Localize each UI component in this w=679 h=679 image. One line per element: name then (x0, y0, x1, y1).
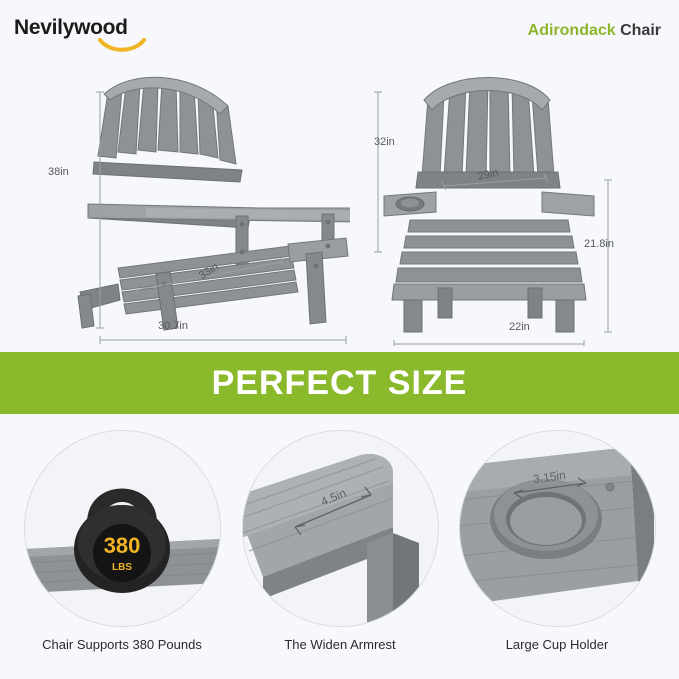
smile-arc-icon (98, 38, 146, 52)
dim-front-width: 22in (509, 321, 530, 333)
side-view-chair (60, 56, 350, 346)
kettlebell-icon: 380 LBS (25, 431, 220, 626)
feature-image-circle: 380 LBS (24, 430, 221, 627)
feature-cup-holder: 3.15in Large Cup Holder (457, 430, 657, 652)
feature-caption: Large Cup Holder (457, 637, 657, 652)
feature-caption: The Widen Armrest (240, 637, 440, 652)
page-title-accent: Adirondack (528, 22, 616, 39)
cup-holder-icon: 3.15in (460, 431, 655, 626)
feature-image-circle: 3.15in (459, 430, 656, 627)
banner-text: PERFECT SIZE (212, 364, 468, 403)
weight-badge-unit: LBS (112, 562, 132, 573)
feature-widen-armrest: 4.5in The Widen Armrest (240, 430, 440, 652)
feature-caption: Chair Supports 380 Pounds (22, 637, 222, 652)
feature-image-circle: 4.5in (242, 430, 439, 627)
dim-side-height: 38in (48, 166, 69, 178)
product-infographic: Nevilywood Adirondack Chair (0, 0, 679, 679)
feature-weight-capacity: 380 LBS Chair Supports 380 Pounds (22, 430, 222, 652)
page-title: Adirondack Chair (528, 22, 661, 40)
brand-logo: Nevilywood (14, 16, 128, 40)
feature-highlights: 380 LBS Chair Supports 380 Pounds (0, 414, 679, 679)
dim-front-height: 32in (374, 136, 395, 148)
dimension-diagrams: 38in 33in 30.7in (0, 56, 679, 350)
front-view-chair (370, 56, 650, 346)
perfect-size-banner: PERFECT SIZE (0, 352, 679, 414)
page-title-rest: Chair (616, 22, 661, 39)
dim-front-seat-height: 21.8in (584, 238, 614, 250)
armrest-icon: 4.5in (243, 431, 438, 626)
dim-side-depth: 30.7in (158, 320, 188, 332)
weight-badge-value: 380 (103, 533, 140, 558)
